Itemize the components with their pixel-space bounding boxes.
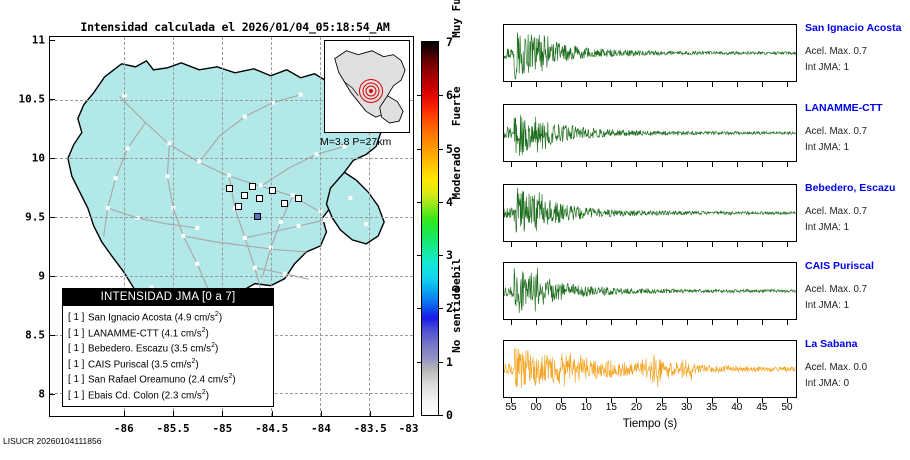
intensity-legend: INTENSIDAD JMA [0 a 7] [ 1 ]San Ignacio …	[62, 288, 274, 407]
station-marker[interactable]	[226, 185, 233, 192]
colorbar-tick	[417, 95, 422, 96]
waveform-tick	[787, 82, 788, 87]
waveform-tick	[561, 82, 562, 87]
accel-label: Acel. Max.	[805, 284, 851, 295]
waveform-tick	[662, 320, 663, 325]
station-accel: Acel. Max. 0.7	[805, 284, 867, 295]
waveform-tick	[737, 162, 738, 167]
station-accel: Acel. Max. 0.7	[805, 126, 867, 137]
colorbar-label: 1	[446, 355, 453, 369]
colorbar-tick	[417, 255, 422, 256]
epicenter-marker	[369, 89, 373, 93]
waveform-tick	[586, 242, 587, 247]
legend-accel: 2.3	[165, 390, 179, 401]
map-ytick: 8	[38, 388, 45, 401]
waveform-ticks	[503, 242, 797, 248]
waveform-tick	[586, 82, 587, 87]
colorbar-tick	[417, 202, 422, 203]
colorbar-tick	[417, 149, 422, 150]
accel-value: 0.7	[853, 126, 867, 137]
legend-accel: 4.9	[178, 312, 192, 323]
station-marker[interactable]	[269, 187, 276, 194]
station-label: La Sabana	[805, 338, 858, 350]
waveform-tick	[611, 242, 612, 247]
waveform-tick	[662, 82, 663, 87]
legend-unit-exp: 2	[191, 358, 195, 365]
map-xtick: -84	[311, 422, 331, 435]
waveform-xtick-label: 05	[556, 402, 567, 413]
legend-level: [ 1 ]	[68, 343, 88, 355]
waveform-trace	[504, 341, 796, 397]
waveform-tick	[636, 320, 637, 325]
legend-level: [ 1 ]	[68, 359, 88, 371]
waveform-tick	[687, 162, 688, 167]
int-value: 0	[844, 378, 849, 389]
waveform-tick	[662, 162, 663, 167]
map-xtick: -84.5	[255, 422, 288, 435]
waveform-xtick-label: 10	[581, 402, 592, 413]
waveform-tick	[737, 320, 738, 325]
accel-label: Acel. Max.	[805, 206, 851, 217]
map-ytick: 11	[32, 33, 45, 46]
colorbar-category: Debil	[450, 259, 463, 292]
station-intensity: Int JMA: 0	[805, 378, 849, 389]
legend-header: INTENSIDAD JMA [0 a 7]	[63, 289, 273, 307]
legend-unit: cm/s	[190, 343, 211, 354]
colorbar-category: Moderado	[450, 146, 463, 199]
list-item: [ 1 ]Ebais Cd. Colon (2.3 cm/s2)	[68, 387, 268, 402]
intensity-colorbar: 0 1 2 3 4 5 6 7 No sentido Debil Moderad…	[421, 41, 439, 416]
map-xtick: -85	[212, 422, 232, 435]
station-marker[interactable]	[281, 200, 288, 207]
waveform-tick	[687, 242, 688, 247]
legend-unit-exp: 2	[211, 342, 215, 349]
waveform-tick	[511, 242, 512, 247]
legend-accel: 3.5	[154, 359, 168, 370]
waveform-tick	[561, 320, 562, 325]
waveform-tick	[762, 242, 763, 247]
waveform-xtick-label: 25	[656, 402, 667, 413]
waveform-ticks	[503, 82, 797, 88]
colorbar-category: No sentido	[450, 286, 463, 352]
waveform-tick	[687, 320, 688, 325]
waveform-tick	[662, 242, 663, 247]
colorbar-tick	[417, 362, 422, 363]
station-marker[interactable]	[256, 195, 263, 202]
station-intensity: Int JMA: 1	[805, 222, 849, 233]
waveform-xtick-label: 45	[756, 402, 767, 413]
int-label: Int JMA:	[805, 62, 841, 73]
waveform-tick	[536, 320, 537, 325]
colorbar-tick	[438, 362, 443, 363]
legend-unit: cm/s	[171, 359, 192, 370]
station-intensity: Int JMA: 1	[805, 62, 849, 73]
waveform-panel-bebedero-escazu[interactable]	[503, 184, 797, 242]
legend-level: [ 1 ]	[68, 312, 88, 324]
int-value: 1	[844, 62, 849, 73]
waveform-trace	[504, 25, 796, 81]
colorbar-tick	[438, 202, 443, 203]
legend-unit: cm/s	[181, 328, 202, 339]
int-label: Int JMA:	[805, 142, 841, 153]
waveform-panel-cais-puriscal[interactable]	[503, 262, 797, 320]
waveform-xtick-label: 00	[531, 402, 542, 413]
waveform-tick	[561, 162, 562, 167]
waveform-tick	[611, 320, 612, 325]
colorbar-tick	[438, 95, 443, 96]
legend-unit-exp: 2	[229, 373, 233, 380]
legend-station: LANAMME-CTT	[88, 328, 159, 339]
colorbar-tick	[438, 255, 443, 256]
accel-value: 0.7	[853, 46, 867, 57]
colorbar-tick	[438, 308, 443, 309]
int-label: Int JMA:	[805, 222, 841, 233]
station-label: LANAMME-CTT	[805, 102, 883, 114]
int-value: 1	[844, 300, 849, 311]
waveform-xtick-label: 50	[781, 402, 792, 413]
station-label: CAIS Puriscal	[805, 260, 874, 272]
waveform-xtick-label: 40	[731, 402, 742, 413]
colorbar-label: 0	[446, 408, 453, 422]
map-ytick: 9	[38, 270, 45, 283]
waveform-tick	[787, 162, 788, 167]
waveform-tick	[611, 162, 612, 167]
list-item: [ 1 ]Bebedero. Escazu (3.5 cm/s2)	[68, 340, 268, 355]
map-gridline	[50, 276, 413, 277]
station-marker[interactable]	[295, 195, 302, 202]
map-gridline	[50, 217, 413, 218]
list-item: [ 1 ]CAIS Puriscal (3.5 cm/s2)	[68, 356, 268, 371]
footer-text: LISUCR 20260104111856	[3, 436, 101, 446]
list-item: [ 1 ]LANAMME-CTT (4.1 cm/s2)	[68, 325, 268, 340]
waveform-tick	[762, 162, 763, 167]
station-intensity: Int JMA: 1	[805, 300, 849, 311]
legend-unit: cm/s	[194, 312, 215, 323]
waveform-tick	[787, 320, 788, 325]
colorbar-category: Muy Fuerte	[450, 0, 463, 38]
int-value: 1	[844, 222, 849, 233]
waveform-tick	[712, 82, 713, 87]
accel-value: 0.7	[853, 284, 867, 295]
station-marker[interactable]	[235, 203, 242, 210]
waveform-xtick-label: 35	[706, 402, 717, 413]
waveform-xtick-label: 20	[631, 402, 642, 413]
legend-unit-exp: 2	[202, 389, 206, 396]
map-xtick: -85.5	[157, 422, 190, 435]
legend-accel: 4.1	[165, 328, 179, 339]
map-ytick: 9.5	[25, 210, 45, 223]
waveform-tick	[536, 82, 537, 87]
legend-unit-exp: 2	[215, 311, 219, 318]
station-marker[interactable]	[249, 183, 256, 190]
waveform-tick	[712, 242, 713, 247]
locator-inset-map[interactable]	[324, 40, 410, 133]
legend-accel: 3.5	[174, 343, 188, 354]
legend-list: [ 1 ]San Ignacio Acosta (4.9 cm/s2) [ 1 …	[63, 306, 273, 406]
waveform-tick	[737, 82, 738, 87]
legend-unit-exp: 2	[202, 327, 206, 334]
legend-station: Bebedero. Escazu	[88, 343, 168, 354]
legend-station: San Rafael Oreamuno	[88, 374, 185, 385]
waveform-tick	[712, 320, 713, 325]
waveform-tick	[511, 82, 512, 87]
station-accel: Acel. Max. 0.0	[805, 362, 867, 373]
waveform-tick	[636, 82, 637, 87]
waveform-tick	[586, 320, 587, 325]
station-marker-selected[interactable]	[254, 213, 261, 220]
map-ytick: 8.5	[25, 329, 45, 342]
waveform-panel-lanamme-ctt[interactable]	[503, 104, 797, 162]
colorbar-tick	[438, 149, 443, 150]
waveform-tick	[712, 162, 713, 167]
waveform-tick	[536, 242, 537, 247]
waveform-tick	[561, 242, 562, 247]
waveform-trace	[504, 185, 796, 241]
map-ytick: 10.5	[19, 92, 46, 105]
waveform-ticks	[503, 320, 797, 326]
colorbar-tick	[417, 308, 422, 309]
waveform-xtick-label: 55	[505, 402, 516, 413]
legend-level: [ 1 ]	[68, 390, 88, 402]
legend-station: CAIS Puriscal	[88, 359, 148, 370]
int-value: 1	[844, 142, 849, 153]
waveform-tick	[687, 82, 688, 87]
map-xtick: -86	[114, 422, 134, 435]
intensity-map[interactable]: M=3.8 P=27km INTENSIDAD JMA [0 a 7] [ 1 …	[49, 36, 414, 417]
legend-unit: cm/s	[208, 374, 229, 385]
accel-label: Acel. Max.	[805, 46, 851, 57]
legend-level: [ 1 ]	[68, 374, 88, 386]
map-gridline	[320, 37, 321, 416]
waveform-tick	[762, 82, 763, 87]
list-item: [ 1 ]San Rafael Oreamuno (2.4 cm/s2)	[68, 371, 268, 386]
waveform-tick	[737, 242, 738, 247]
waveform-panel-san-ignacio-acosta[interactable]	[503, 24, 797, 82]
map-xtick: -83	[399, 422, 419, 435]
accel-value: 0.0	[853, 362, 867, 373]
station-accel: Acel. Max. 0.7	[805, 46, 867, 57]
page-title: Intensidad calculada el 2026/01/04_05:18…	[60, 20, 410, 34]
map-gridline	[50, 158, 413, 159]
colorbar-tick	[438, 415, 443, 416]
waveform-tick	[636, 162, 637, 167]
legend-unit: cm/s	[181, 390, 202, 401]
legend-level: [ 1 ]	[68, 328, 88, 340]
accel-value: 0.7	[853, 206, 867, 217]
colorbar-category: Fuerte	[450, 86, 463, 126]
int-label: Int JMA:	[805, 378, 841, 389]
station-label: San Ignacio Acosta	[805, 22, 901, 34]
waveform-tick	[611, 82, 612, 87]
quake-magnitude-depth: M=3.8 P=27km	[318, 136, 410, 148]
waveform-tick	[586, 162, 587, 167]
waveform-tick	[787, 242, 788, 247]
waveform-tick	[536, 162, 537, 167]
waveform-panel-la-sabana[interactable]	[503, 340, 797, 398]
waveform-tick	[762, 320, 763, 325]
waveform-xaxis-labels: 550005101520253035404550	[503, 402, 797, 416]
waveform-trace	[504, 105, 796, 161]
waveform-xaxis-label: Tiempo (s)	[503, 418, 797, 430]
legend-station: Ebais Cd. Colon	[88, 390, 159, 401]
map-ytick: 10	[32, 151, 45, 164]
accel-label: Acel. Max.	[805, 362, 851, 373]
station-accel: Acel. Max. 0.7	[805, 206, 867, 217]
station-intensity: Int JMA: 1	[805, 142, 849, 153]
accel-label: Acel. Max.	[805, 126, 851, 137]
legend-station: San Ignacio Acosta	[88, 312, 172, 323]
waveform-xtick-label: 15	[606, 402, 617, 413]
list-item: [ 1 ]San Ignacio Acosta (4.9 cm/s2)	[68, 309, 268, 324]
waveform-xtick-label: 30	[681, 402, 692, 413]
waveform-tick	[511, 162, 512, 167]
waveform-tick	[636, 242, 637, 247]
waveform-trace	[504, 263, 796, 319]
station-label: Bebedero, Escazu	[805, 182, 895, 194]
int-label: Int JMA:	[805, 300, 841, 311]
waveform-tick	[511, 320, 512, 325]
map-xtick: -83.5	[354, 422, 387, 435]
station-marker[interactable]	[241, 192, 248, 199]
legend-accel: 2.4	[191, 374, 205, 385]
waveform-ticks	[503, 162, 797, 168]
